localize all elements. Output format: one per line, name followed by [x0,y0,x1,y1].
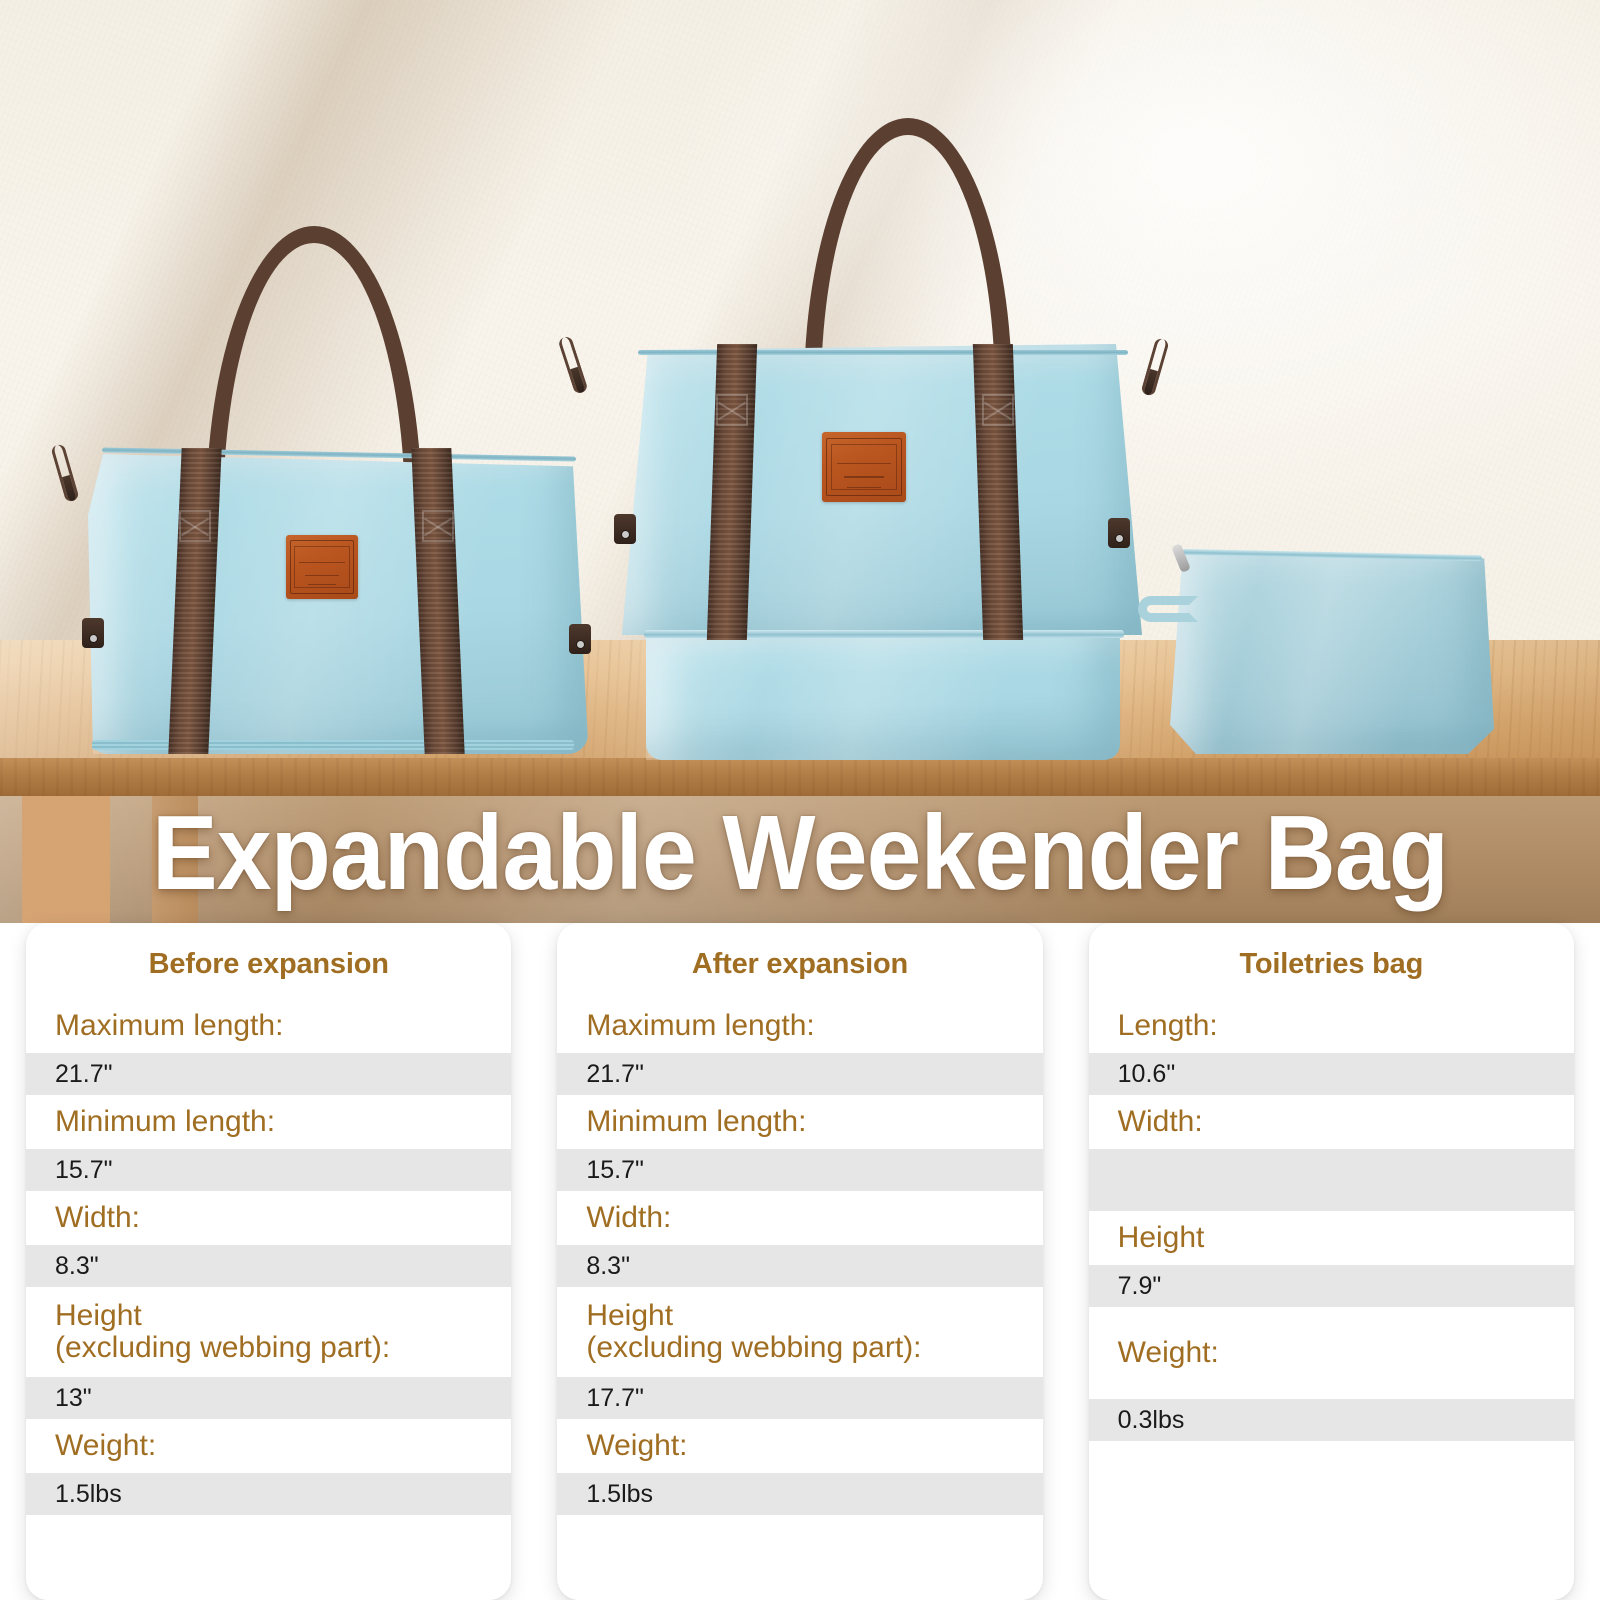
spec-value-text: 0.3lbs [1118,1406,1185,1435]
spec-card-title: After expansion [557,923,1042,999]
folded-tote-bag [40,220,620,770]
spec-label-text: Height [1118,1222,1205,1254]
spec-label-line2: (excluding webbing part): [55,1332,390,1364]
spec-label-text: Weight: [586,1430,687,1462]
spec-value-text: 15.7" [586,1156,644,1185]
bag-sheen-expansion [646,634,1120,760]
strap-x-stitch-right-middle [982,394,1014,426]
spec-label-row: Maximum length: [26,999,511,1053]
spec-value-text: 17.7" [586,1384,644,1413]
spec-label-text-multiline: Height (excluding webbing part): [586,1300,921,1365]
spec-card-after-expansion: After expansion Maximum length: 21.7" Mi… [557,923,1042,1600]
spec-label-row: Weight: [557,1419,1042,1473]
spec-label-text: Weight: [55,1430,156,1462]
spec-label-row: Weight: [1089,1307,1574,1399]
spec-label-text: Width: [586,1202,671,1234]
page-title: Expandable Weekender Bag [56,800,1544,906]
spec-value-row: 1.5lbs [26,1473,511,1515]
spec-label-row: Width: [1089,1095,1574,1149]
spec-label-row: Width: [26,1191,511,1245]
spec-card-toiletries-bag: Toiletries bag Length: 10.6" Width: Heig… [1089,923,1574,1600]
spec-label-text: Width: [55,1202,140,1234]
bottom-fold-zipper-folded [92,740,574,750]
spec-label-line2: (excluding webbing part): [586,1332,921,1364]
spec-value-text: 15.7" [55,1156,113,1185]
strap-x-stitch-right [422,510,454,542]
spec-rows: Maximum length: 21.7" Minimum length: 15… [557,999,1042,1554]
spec-label-text: Minimum length: [586,1106,806,1138]
spec-value-text: 8.3" [586,1252,630,1281]
spec-value-row: 8.3" [557,1245,1042,1287]
spec-value-row-empty [1089,1149,1574,1211]
top-zipper-expanded [638,350,1128,355]
spec-value-text: 1.5lbs [586,1480,653,1509]
spec-value-text: 8.3" [55,1252,99,1281]
spec-label-text: Width: [1118,1106,1203,1138]
spec-value-row: 17.7" [557,1377,1042,1419]
spec-label-text: Maximum length: [55,1010,283,1042]
spec-rows: Maximum length: 21.7" Minimum length: 15… [26,999,511,1554]
spec-label-text-multiline: Height (excluding webbing part): [55,1300,390,1365]
spec-card-title: Toiletries bag [1089,923,1574,999]
spec-value-text: 1.5lbs [55,1480,122,1509]
spec-value-row: 21.7" [557,1053,1042,1095]
spec-value-row: 15.7" [26,1149,511,1191]
spec-label-line1: Height [586,1300,921,1332]
pouch-sheen [1170,546,1494,754]
side-snap-tab-left-expanded [614,514,636,544]
pouch-body [1170,546,1494,754]
spec-label-row: Width: [557,1191,1042,1245]
spec-label-row: Height (excluding webbing part): [26,1287,511,1377]
spec-card-footer [26,1554,511,1600]
bag-sheen-folded [88,448,588,754]
side-snap-tab-right-expanded [1108,518,1130,548]
spec-value-text: 21.7" [586,1060,644,1089]
spec-label-text: Weight: [1118,1337,1219,1369]
spec-label-line1: Height [55,1300,390,1332]
expanded-tote-bag [560,100,1220,780]
side-snap-tab-left-folded [82,618,104,648]
spec-value-text: 10.6" [1118,1060,1176,1089]
zipper-pull-right-expanded [1140,337,1169,397]
spec-label-text: Length: [1118,1010,1218,1042]
zipper-pull-left-folded [50,443,79,503]
spec-card-title: Before expansion [26,923,511,999]
spec-label-row: Maximum length: [557,999,1042,1053]
leather-logo-patch-folded [286,535,358,599]
spec-label-text: Minimum length: [55,1106,275,1138]
spec-value-row: 0.3lbs [1089,1399,1574,1441]
strap-x-stitch-left [179,510,211,542]
spec-card-footer [557,1554,1042,1600]
spec-label-row: Minimum length: [26,1095,511,1149]
specifications-section: Before expansion Maximum length: 21.7" M… [0,923,1600,1600]
strap-x-stitch-left-middle [716,394,748,426]
bag-body-folded [88,448,588,754]
spec-label-text: Maximum length: [586,1010,814,1042]
spec-label-row: Weight: [26,1419,511,1473]
bag-expansion-compartment [646,634,1120,760]
spec-value-row: 15.7" [557,1149,1042,1191]
spec-value-row: 13" [26,1377,511,1419]
spec-label-row: Length: [1089,999,1574,1053]
toiletries-pouch [1150,528,1510,768]
leather-logo-patch-expanded [822,432,906,502]
spec-value-row: 8.3" [26,1245,511,1287]
spec-value-row: 7.9" [1089,1265,1574,1307]
spec-label-row: Minimum length: [557,1095,1042,1149]
spec-card-footer [1089,1508,1574,1600]
pouch-wrist-strap [1138,596,1198,622]
spec-label-row: Height (excluding webbing part): [557,1287,1042,1377]
spec-value-row: 10.6" [1089,1053,1574,1095]
spec-value-row: 1.5lbs [557,1473,1042,1515]
product-photo: Expandable Weekender Bag [0,0,1600,923]
spec-value-text: 21.7" [55,1060,113,1089]
spec-label-row: Height [1089,1211,1574,1265]
zipper-pull-left-expanded [557,335,588,394]
spec-value-text: 13" [55,1384,92,1413]
spec-rows: Length: 10.6" Width: Height 7.9" Weight:… [1089,999,1574,1508]
spec-value-text: 7.9" [1118,1272,1162,1301]
spec-card-before-expansion: Before expansion Maximum length: 21.7" M… [26,923,511,1600]
spec-value-row: 21.7" [26,1053,511,1095]
